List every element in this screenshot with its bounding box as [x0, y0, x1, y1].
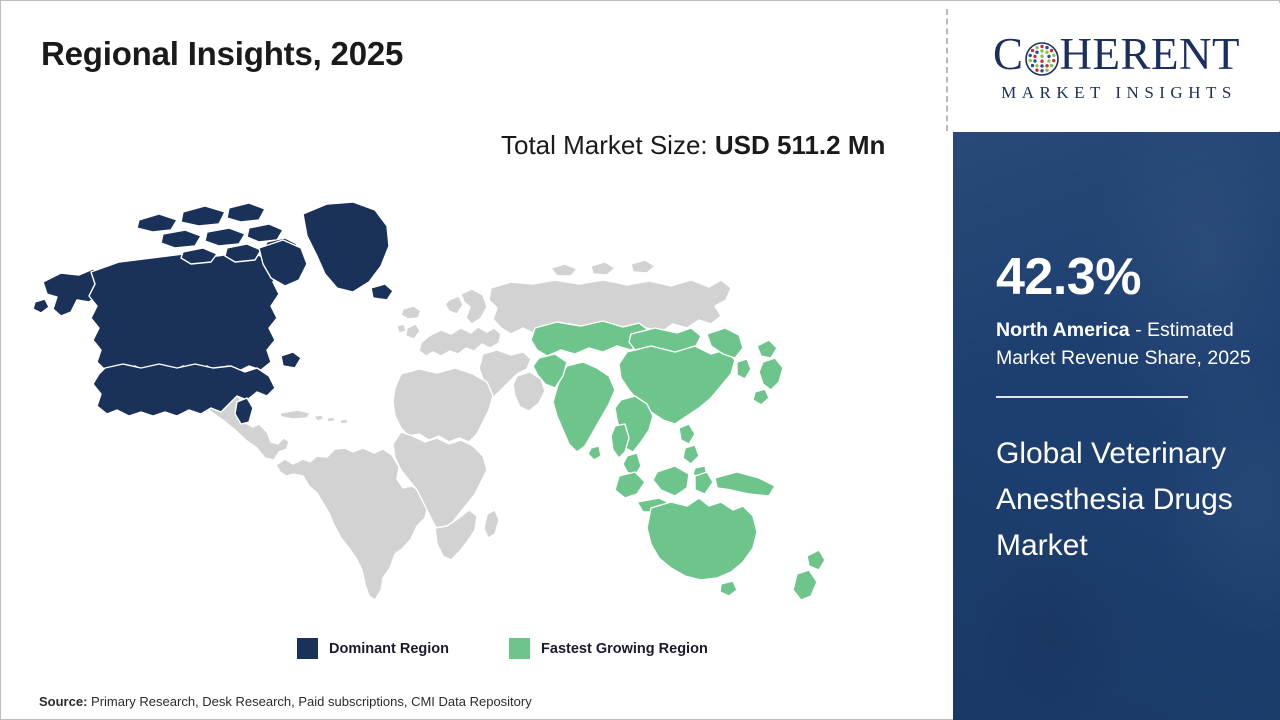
market-size-label: Total Market Size:	[501, 130, 715, 160]
world-map-svg	[31, 176, 911, 621]
map-legend: Dominant Region Fastest Growing Region	[297, 638, 708, 659]
source-text: Primary Research, Desk Research, Paid su…	[87, 694, 531, 709]
brand-logo: C	[953, 3, 1280, 131]
legend-item-fastest-growing: Fastest Growing Region	[509, 638, 708, 659]
panel-divider-rule	[996, 396, 1188, 398]
legend-label-dominant: Dominant Region	[329, 641, 449, 657]
logo-letter-c: C	[993, 32, 1024, 77]
side-panel: 42.3% North America - Estimated Market R…	[953, 132, 1280, 720]
logo-wordmark: C	[993, 32, 1240, 77]
page-title: Regional Insights, 2025	[41, 35, 403, 73]
market-size-value: USD 511.2 Mn	[715, 130, 886, 160]
map-region-north-america	[33, 202, 393, 424]
world-map	[31, 176, 911, 621]
globe-icon	[1025, 39, 1059, 73]
legend-item-dominant: Dominant Region	[297, 638, 449, 659]
stat-region-name: North America	[996, 319, 1130, 341]
logo-tagline: MARKET INSIGHTS	[996, 83, 1237, 103]
stat-percentage: 42.3%	[996, 251, 1264, 303]
market-report-title: Global Veterinary Anesthesia Drugs Marke…	[996, 431, 1246, 568]
legend-swatch-fastest-growing	[509, 638, 530, 659]
map-region-inactive	[199, 260, 731, 600]
source-prefix: Source:	[39, 694, 87, 709]
vertical-dashed-divider	[946, 9, 948, 131]
map-region-asia-pacific	[531, 321, 825, 600]
side-panel-content: 42.3% North America - Estimated Market R…	[996, 132, 1264, 568]
logo-text-herent: HERENT	[1060, 32, 1240, 77]
infographic-root: Regional Insights, 2025 Total Market Siz…	[0, 0, 1280, 720]
total-market-size: Total Market Size: USD 511.2 Mn	[501, 127, 921, 165]
legend-swatch-dominant	[297, 638, 318, 659]
legend-label-fastest-growing: Fastest Growing Region	[541, 641, 708, 657]
stat-description: North America - Estimated Market Revenue…	[996, 317, 1260, 372]
source-note: Source: Primary Research, Desk Research,…	[39, 694, 532, 709]
